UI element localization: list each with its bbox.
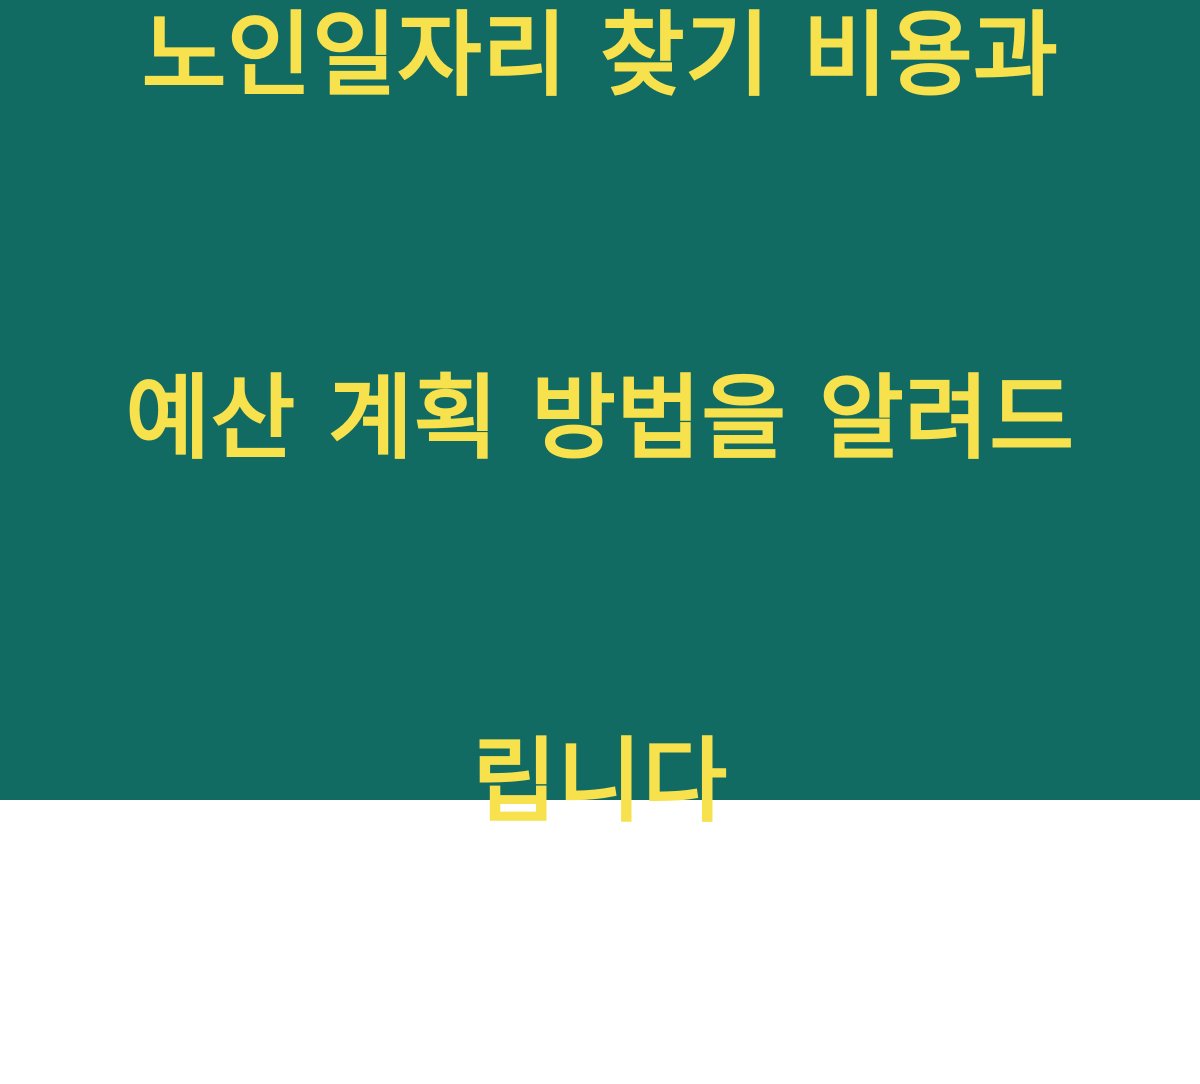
page-title: 노인일자리 찾기 비용과 예산 계획 방법을 알려드 립니다: [75, 0, 1125, 1084]
banner-canvas: 노인일자리 찾기 비용과 예산 계획 방법을 알려드 립니다: [0, 0, 1200, 800]
headline-line-1: 노인일자리 찾기 비용과: [75, 0, 1125, 116]
headline-line-3: 립니다: [75, 721, 1125, 842]
headline-line-2: 예산 계획 방법을 알려드: [75, 358, 1125, 479]
